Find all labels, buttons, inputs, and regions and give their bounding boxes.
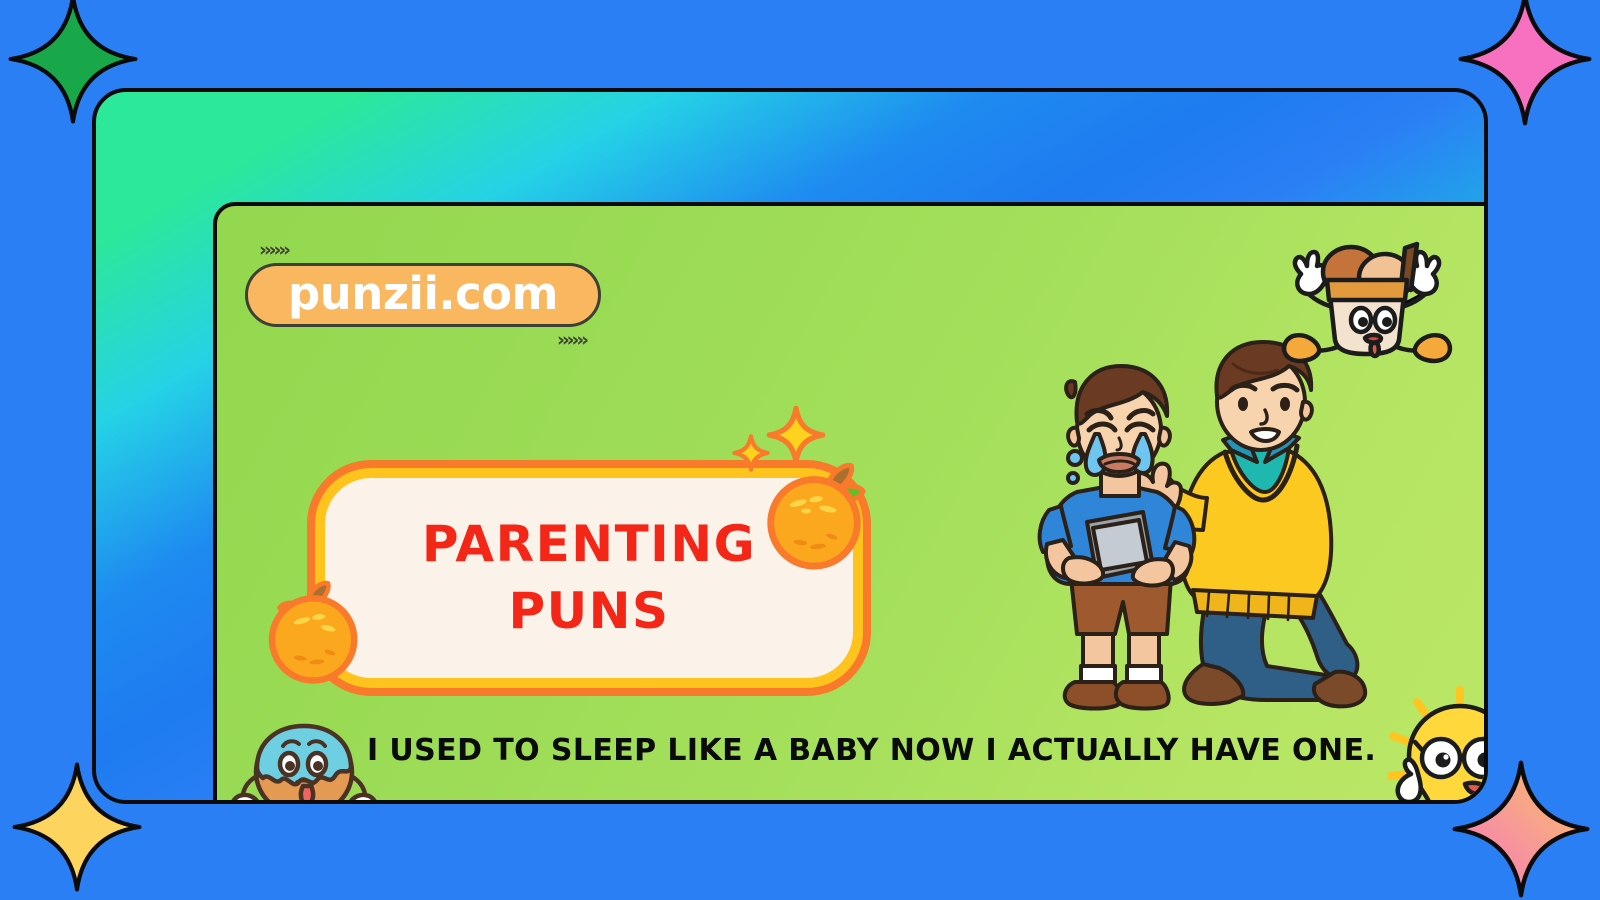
logo-text: punzii.com [288, 271, 558, 320]
father-comforting-crying-boy-illustration [1017, 334, 1377, 718]
title-line-1: PARENTING [422, 511, 756, 579]
poster-card-body: ›››››› punzii.com ›››››› PARENTING PUNS [213, 202, 1488, 804]
site-logo-badge[interactable]: ›››››› punzii.com ›››››› [245, 241, 645, 351]
chevron-decoration-top: ›››››› [259, 241, 288, 260]
donut-mascot [229, 706, 379, 804]
title-line-2: PUNS [508, 578, 669, 646]
poster-card-frame: ›››››› punzii.com ›››››› PARENTING PUNS [92, 88, 1488, 804]
lightbulb-mascot [1385, 684, 1488, 804]
pun-caption: I USED TO SLEEP LIKE A BABY NOW I ACTUAL… [367, 734, 1407, 767]
poster-canvas: ›››››› punzii.com ›››››› PARENTING PUNS [0, 0, 1600, 900]
ice-cream-cup-mascot [1277, 224, 1457, 364]
orange-fruit-left-icon [259, 576, 371, 688]
orange-fruit-right-icon [757, 454, 875, 572]
logo-pill[interactable]: punzii.com [245, 263, 601, 327]
chevron-decoration-bottom: ›››››› [557, 331, 586, 350]
